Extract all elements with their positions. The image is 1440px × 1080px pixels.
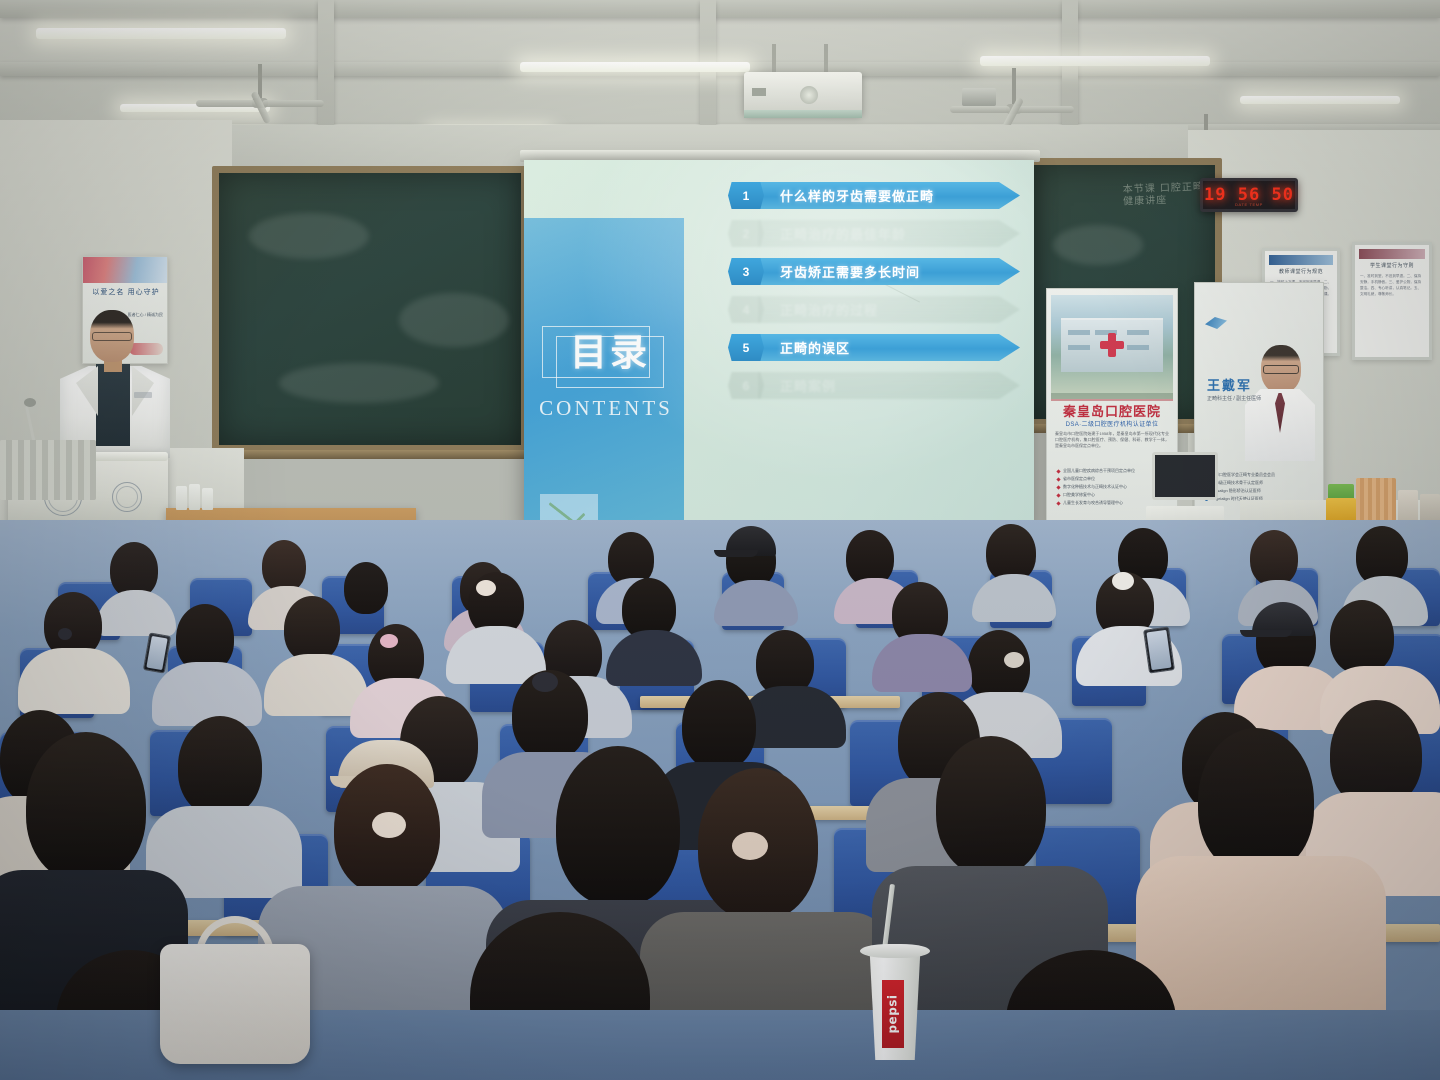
presenter-badge — [134, 392, 152, 398]
university-emblem-icon — [112, 482, 142, 512]
ceiling-light — [980, 56, 1210, 66]
toc-item-1: 1 什么样的牙齿需要做正畸 — [728, 182, 1020, 209]
notice-band — [1269, 255, 1333, 265]
toc-number: 6 — [728, 372, 764, 399]
audience-shoulders — [606, 630, 702, 686]
toc-item-3: 3 牙齿矫正需要多长时间 — [728, 258, 1020, 285]
radiator — [0, 440, 96, 500]
water-bottle — [189, 484, 200, 510]
ceiling-beam — [318, 0, 334, 136]
water-bottle — [176, 486, 187, 510]
doctor-role: 正畸科主任 / 副主任医师 — [1207, 395, 1263, 404]
medical-cross-icon — [1100, 333, 1124, 357]
notice-body: 一、准时到堂，不迟到早退。二、保持安静，手机静音。三、爱护公物，保持整洁。四、专… — [1360, 273, 1424, 297]
projection-screen: 目录 CONTENTS 中国口腔医学 1 什么样的牙齿需要做正畸 2 正畸治疗的… — [524, 160, 1034, 530]
clock-subline: DATE TEMP — [1203, 202, 1295, 207]
audience-shoulders — [152, 662, 262, 726]
chalkboard-left — [212, 166, 528, 452]
supply-box-striped — [1356, 478, 1396, 524]
phone-screen — [1146, 630, 1171, 670]
hair-scrunchie — [732, 832, 768, 860]
toc-number: 5 — [728, 334, 764, 361]
audience-head — [1250, 530, 1298, 586]
smartphone[interactable] — [1143, 626, 1175, 673]
notice-band — [1359, 249, 1425, 259]
ceiling-light — [36, 28, 286, 39]
audience-head — [344, 562, 388, 614]
slide-title-en: CONTENTS — [530, 396, 682, 421]
glasses-icon — [92, 332, 132, 341]
presentation-slide: 目录 CONTENTS 中国口腔医学 1 什么样的牙齿需要做正畸 2 正畸治疗的… — [524, 160, 1034, 530]
slide-title-panel: 目录 CONTENTS 中国口腔医学 — [524, 218, 684, 528]
audience-head — [936, 736, 1046, 876]
ceiling-beam — [0, 0, 1440, 18]
ceiling-light — [520, 62, 750, 72]
toc-item-6: 6 正畸案例 — [728, 372, 1020, 399]
audience-head — [682, 680, 756, 770]
chalk-tray — [208, 450, 534, 459]
toc-label: 牙齿矫正需要多长时间 — [758, 258, 1020, 285]
presenter-inner-shirt — [96, 364, 130, 446]
digital-wall-clock: 19 56 50 DATE TEMP — [1200, 178, 1298, 212]
lecture-hall-scene: 本节课 口腔正畸 健康讲座 19 56 50 DATE TEMP 以爱之名 用心… — [0, 0, 1440, 1080]
doctor-name: 王戴军 — [1207, 375, 1252, 394]
hair-tie — [380, 634, 398, 648]
cup-brand-label: pepsi — [882, 980, 904, 1048]
toc-number: 4 — [728, 296, 764, 323]
audience-shoulders — [18, 648, 130, 714]
supply-box-beige — [1398, 490, 1418, 524]
toc-number: 1 — [728, 182, 764, 209]
toc-label: 正畸治疗的最佳年龄 — [758, 220, 1020, 247]
notice-heading: 教师课堂行为规范 — [1269, 268, 1333, 275]
notice-heading: 学生课堂行为守则 — [1359, 262, 1425, 269]
ceiling-light — [1240, 96, 1400, 104]
hair-scrunchie — [372, 812, 406, 838]
audience-head — [262, 540, 306, 592]
wall-speaker — [962, 88, 996, 106]
toc-label: 正畸案例 — [758, 372, 1020, 399]
hair-scrunchie — [476, 580, 496, 596]
audience-head — [556, 746, 680, 906]
poster-swash — [83, 257, 167, 283]
audience-head — [178, 716, 262, 816]
tote-bag — [160, 944, 310, 1064]
toc-number: 2 — [728, 220, 764, 247]
hair-tie — [1004, 652, 1024, 668]
hospital-subtitle: DSA·二级口腔医疗机构认证单位 — [1047, 419, 1177, 428]
audience-head — [26, 732, 146, 882]
hair-tie — [58, 628, 72, 640]
doctor-bullet-list: 中华口腔医学会正畸专业委员会会员 省市级正畸技术骨干认定医师 Invisalig… — [1205, 471, 1315, 503]
hospital-name: 秦皇岛口腔医院 — [1047, 401, 1177, 420]
slide-title-cn: 目录 — [558, 330, 662, 376]
smartphone[interactable] — [143, 632, 171, 673]
hospital-body-text: 秦皇岛市口腔医院始建于1958年，是秦皇岛市第一所现代化专业口腔医疗机构，集口腔… — [1055, 431, 1169, 449]
cap-brim — [714, 550, 758, 557]
toc-label: 正畸的误区 — [758, 334, 1020, 361]
phone-screen — [146, 636, 167, 670]
glasses-icon — [1263, 365, 1299, 374]
cap-brim — [1240, 630, 1292, 637]
audience-head — [1330, 600, 1394, 674]
water-bottle — [202, 488, 213, 510]
toc-label: 什么样的牙齿需要做正畸 — [758, 182, 1020, 209]
toc-item-5: 5 正畸的误区 — [728, 334, 1020, 361]
equipment-monitor — [1152, 452, 1218, 500]
toc-number: 3 — [728, 258, 764, 285]
ceiling-beam — [1062, 0, 1078, 136]
cup-lid — [860, 944, 930, 958]
hair-bun — [532, 672, 558, 692]
hair-scrunchie — [1112, 572, 1134, 590]
presenter — [56, 310, 174, 460]
audience-head — [284, 596, 340, 662]
notice-frame: 学生课堂行为守则 一、准时到堂，不迟到早退。二、保持安静，手机静音。三、爱护公物… — [1352, 242, 1432, 360]
doctor-bullet: 中华口腔医学会正畸专业委员会会员 — [1205, 471, 1315, 479]
doctor-bullet: Invisalign 隐形矫治认证医师 — [1205, 487, 1315, 495]
chalkboard-notes: 本节课 口腔正畸 健康讲座 — [1123, 182, 1210, 209]
doctor-bullet: 省市级正畸技术骨干认定医师 — [1205, 479, 1315, 487]
toc-item-2: 2 正畸治疗的最佳年龄 — [728, 220, 1020, 247]
cup-brand-text: pepsi — [886, 994, 900, 1033]
hospital-building-photo — [1051, 295, 1173, 399]
audience-head — [1198, 728, 1314, 874]
clinic-logo-icon — [1205, 317, 1227, 329]
poster-title: 以爱之名 用心守护 — [89, 287, 163, 298]
